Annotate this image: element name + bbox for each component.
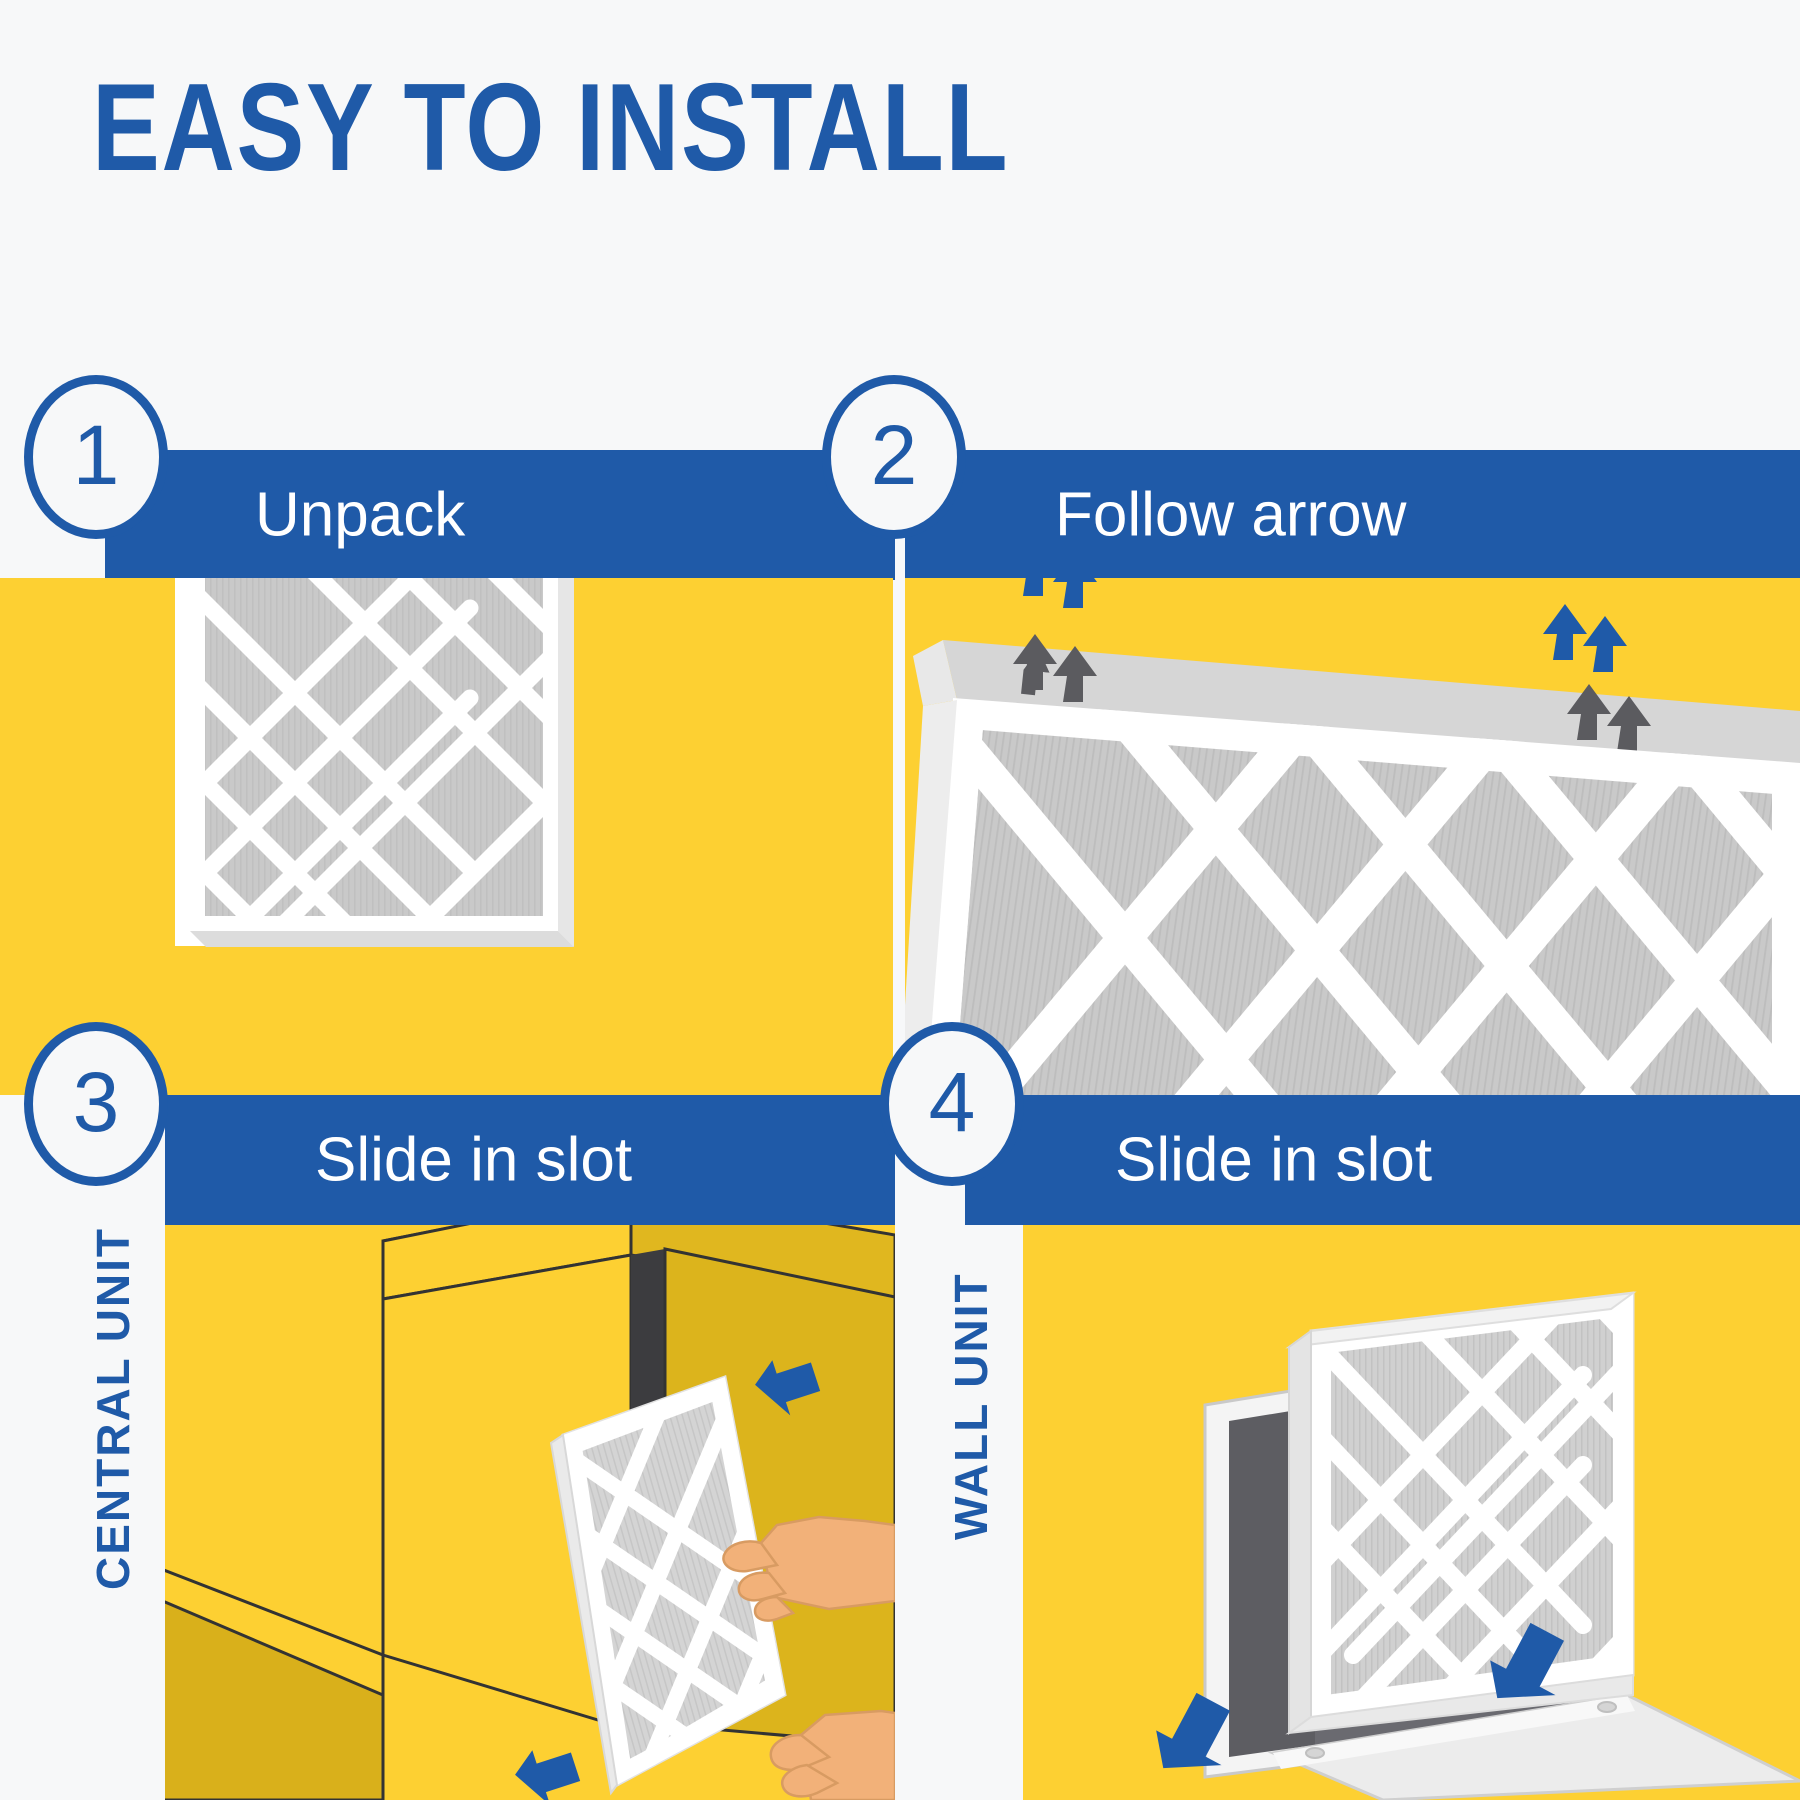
step-4-number: 4 — [929, 1060, 976, 1144]
step-4-label: Slide in slot — [1115, 1125, 1432, 1196]
screw-icon — [1598, 1702, 1616, 1712]
wall-unit-svg — [1023, 1225, 1800, 1800]
step-4-header-bar: Slide in slot — [965, 1095, 1800, 1225]
step-1-number: 1 — [73, 413, 120, 497]
step-2-label: Follow arrow — [1055, 480, 1406, 551]
step-3-number: 3 — [73, 1060, 120, 1144]
step-1-illustration — [0, 578, 893, 1095]
step-4-number-badge: 4 — [880, 1022, 1024, 1186]
step-4-illustration — [1023, 1225, 1800, 1800]
step-1-number-badge: 1 — [24, 375, 168, 539]
step-2-number: 2 — [871, 413, 918, 497]
central-unit-svg — [165, 1225, 895, 1800]
step-3-number-badge: 3 — [24, 1022, 168, 1186]
step-1-label: Unpack — [255, 480, 465, 551]
step-3-illustration — [165, 1225, 895, 1800]
step-3-header-bar: Slide in slot — [165, 1095, 895, 1225]
filter-flat-svg — [0, 578, 893, 1095]
step-4-side-caption: WALL UNIT — [944, 1272, 998, 1540]
insert-arrow-bottom — [510, 1739, 585, 1800]
step-2-illustration — [905, 578, 1800, 1095]
filter-tilted-svg — [905, 578, 1800, 1095]
step-2-header-bar: Follow arrow — [905, 450, 1800, 580]
step-3-side-caption: CENTRAL UNIT — [86, 1227, 140, 1590]
page-title: EASY TO INSTALL — [92, 66, 1009, 190]
step-1-header-bar: Unpack — [105, 450, 895, 580]
step-2-number-badge: 2 — [822, 375, 966, 539]
screw-icon — [1306, 1748, 1324, 1758]
step-3-label: Slide in slot — [315, 1125, 632, 1196]
